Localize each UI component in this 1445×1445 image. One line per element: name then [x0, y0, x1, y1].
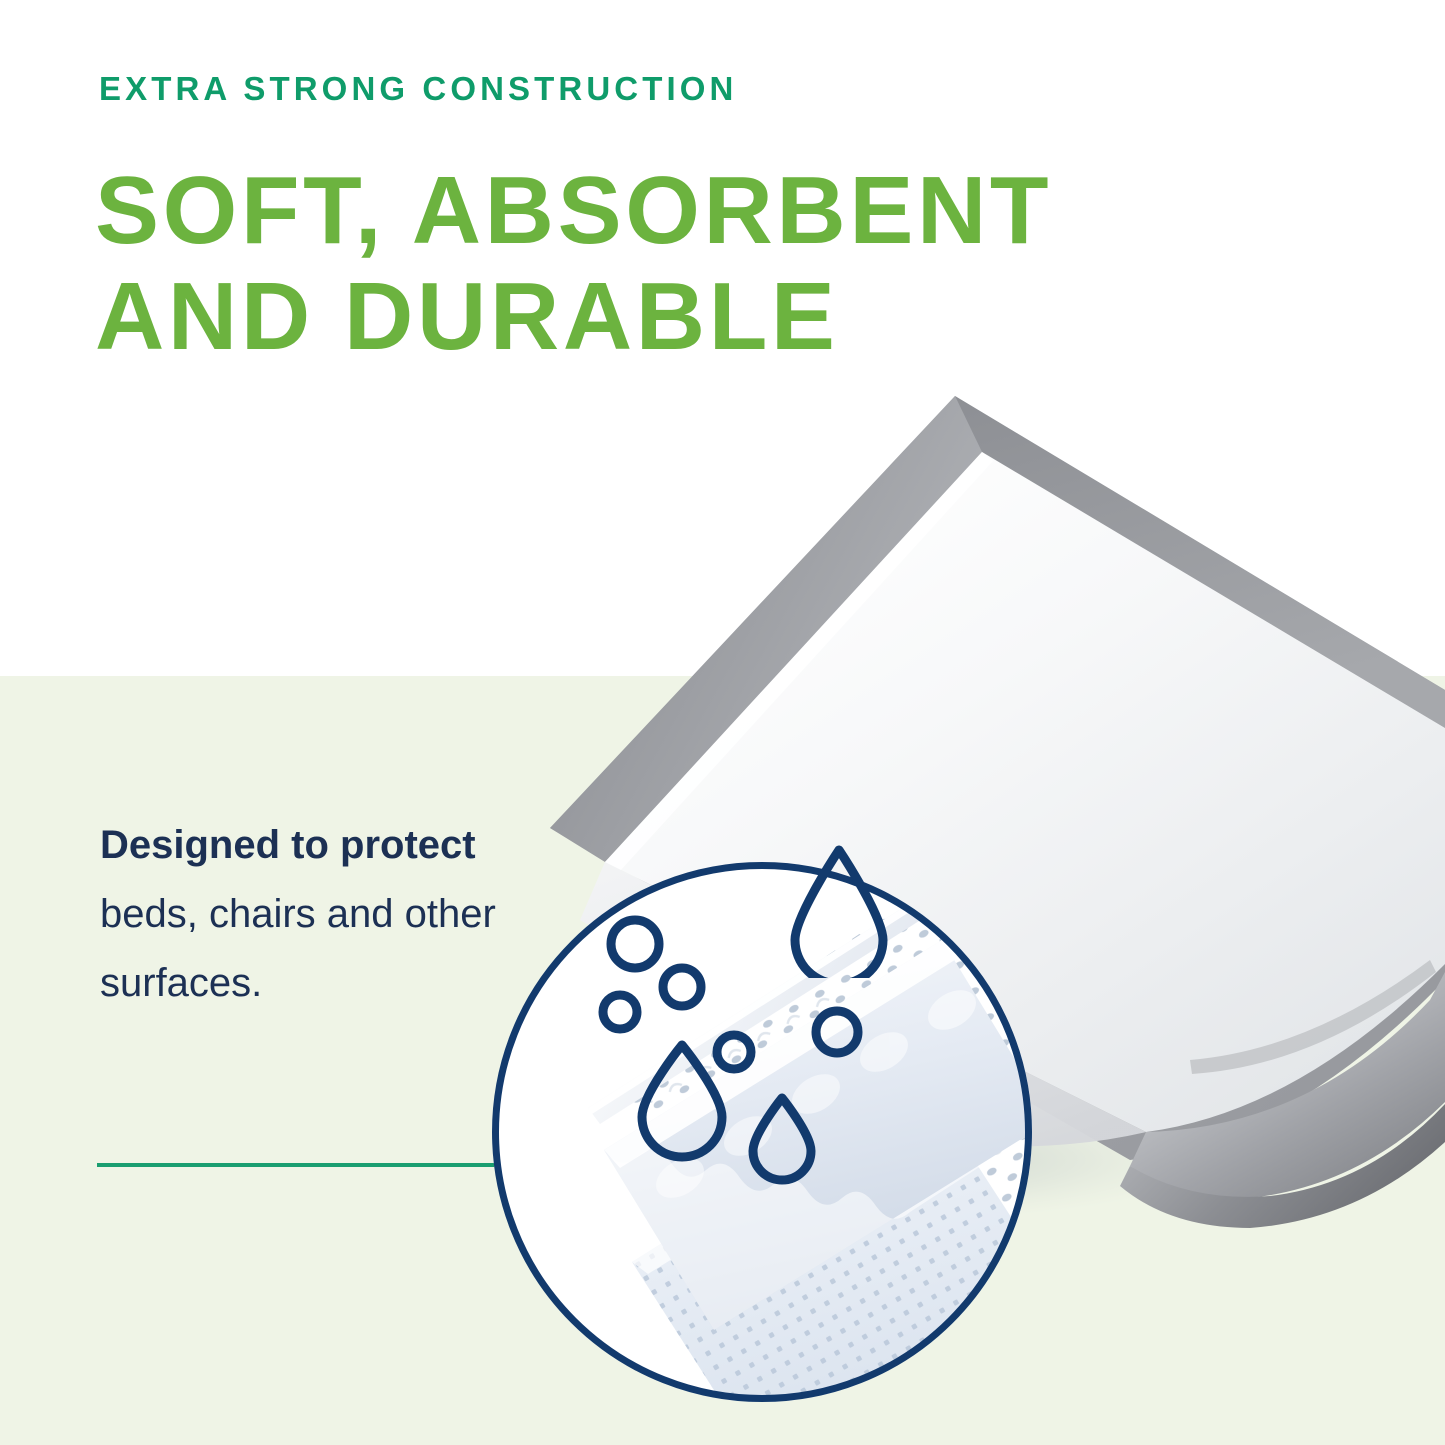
feature-panel: EXTRA STRONG CONSTRUCTION SOFT, ABSORBEN… [0, 0, 1445, 1445]
eyebrow-label: EXTRA STRONG CONSTRUCTION [99, 72, 737, 105]
callout-text: Designed to protect beds, chairs and oth… [100, 811, 500, 1017]
callout-bold-lead: Designed to [100, 823, 329, 867]
headline-line-2: AND DURABLE [95, 264, 1255, 370]
page-title: SOFT, ABSORBENT AND DURABLE [95, 158, 1255, 369]
detail-circle-clip [492, 862, 1032, 1402]
water-droplet-large [787, 844, 891, 978]
bead-ring-small [603, 995, 637, 1029]
headline-line-1: SOFT, ABSORBENT [95, 158, 1255, 264]
bead-ring-medium [663, 968, 701, 1006]
bead-ring-large [611, 920, 659, 968]
callout-bold-protect: protect [340, 823, 476, 867]
callout-rest: beds, chairs and other surfaces. [100, 892, 496, 1005]
cutaway-detail-circle [492, 862, 1032, 1402]
